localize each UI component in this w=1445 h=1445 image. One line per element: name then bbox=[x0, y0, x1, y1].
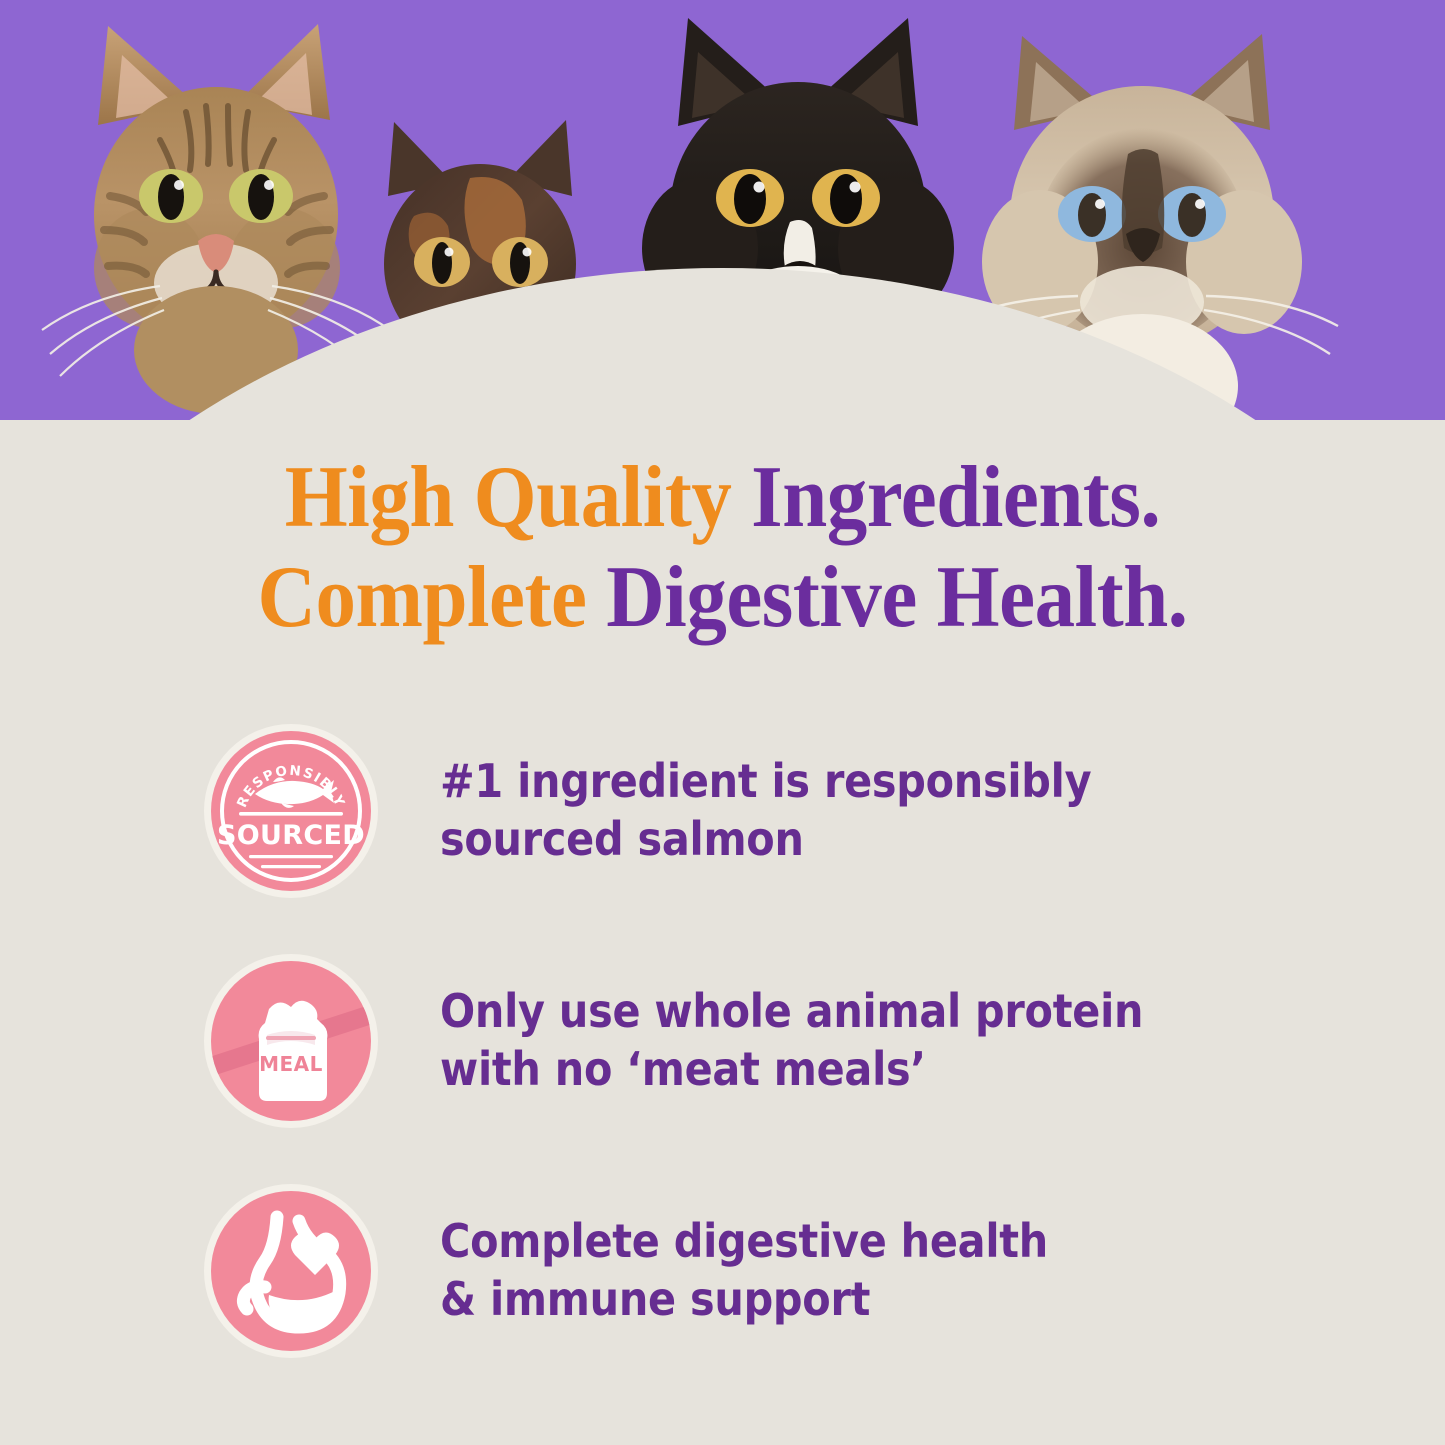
feature-text-line1: Complete digestive health bbox=[440, 1213, 1048, 1271]
badge-circle: MEAL bbox=[211, 961, 371, 1121]
headline-line-2: Complete Digestive Health. bbox=[58, 548, 1387, 648]
digestive-health-icon bbox=[208, 1188, 374, 1354]
feature-text: #1 ingredient is responsibly sourced sal… bbox=[440, 753, 1091, 869]
list-item: RESPONSIBLY SOURCED bbox=[208, 726, 1328, 896]
feature-text-line2: sourced salmon bbox=[440, 811, 1091, 869]
badge-artwork: RESPONSIBLY SOURCED bbox=[211, 731, 371, 891]
feature-text-line2: & immune support bbox=[440, 1271, 1048, 1329]
responsibly-sourced-badge-icon: RESPONSIBLY SOURCED bbox=[208, 728, 374, 894]
product-feature-panel: High Quality Ingredients. Complete Diges… bbox=[0, 0, 1445, 1445]
badge-artwork bbox=[211, 1191, 371, 1351]
badge-main-text: SOURCED bbox=[217, 820, 365, 851]
headline-line1-purple: Ingredients. bbox=[751, 449, 1160, 546]
headline-line-1: High Quality Ingredients. bbox=[58, 448, 1387, 548]
badge-circle: RESPONSIBLY SOURCED bbox=[211, 731, 371, 891]
headline-line2-orange: Complete bbox=[257, 549, 606, 646]
badge-circle bbox=[211, 1191, 371, 1351]
hero-banner bbox=[0, 0, 1445, 420]
no-meat-meal-icon: MEAL bbox=[208, 958, 374, 1124]
list-item: MEAL Only use whole animal protein with … bbox=[208, 956, 1328, 1126]
feature-text: Only use whole animal protein with no ‘m… bbox=[440, 983, 1143, 1099]
feature-list: RESPONSIBLY SOURCED bbox=[208, 726, 1328, 1416]
headline-line2-purple: Digestive Health. bbox=[606, 549, 1187, 646]
feature-text-line1: #1 ingredient is responsibly bbox=[440, 753, 1091, 811]
badge-inner-ring bbox=[220, 970, 362, 1112]
list-item: Complete digestive health & immune suppo… bbox=[208, 1186, 1328, 1356]
page-title: High Quality Ingredients. Complete Diges… bbox=[0, 448, 1445, 649]
feature-text-line2: with no ‘meat meals’ bbox=[440, 1041, 1143, 1099]
feature-text: Complete digestive health & immune suppo… bbox=[440, 1213, 1048, 1329]
feature-text-line1: Only use whole animal protein bbox=[440, 983, 1143, 1041]
headline-line1-orange: High Quality bbox=[285, 449, 751, 546]
